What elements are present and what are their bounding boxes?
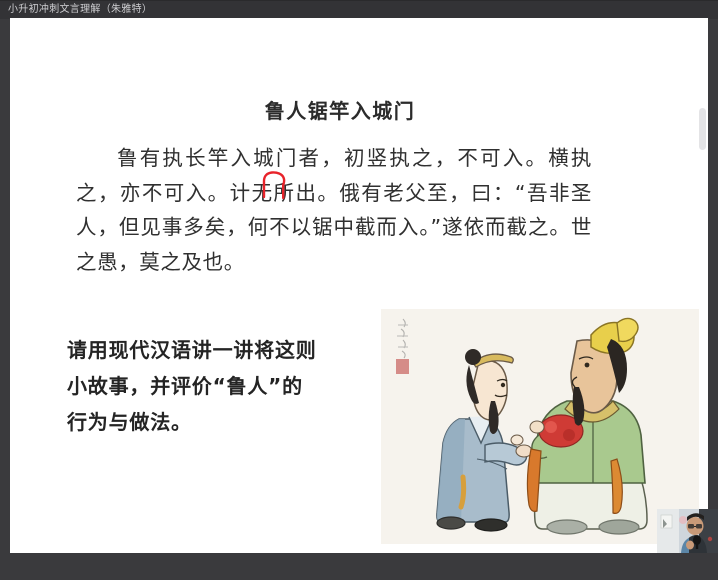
prompt-block: 请用现代汉语讲一讲将这则 小故事，并评价“鲁人”的 行为与做法。: [67, 332, 367, 440]
webcam-video: [657, 509, 718, 553]
lesson-title: 小升初冲刺文言理解（朱雅特）: [0, 1, 152, 19]
ink-painting-two-figures: [381, 309, 699, 544]
page-scrollbar-thumb[interactable]: [699, 108, 706, 150]
presenter-webcam[interactable]: [657, 509, 718, 553]
seal-stamp: [396, 359, 409, 374]
page-title: 鲁人锯竿入城门: [10, 95, 670, 124]
classical-passage-text: 鲁有执长竿入城门者，初竖执之，不可入。横执之，亦不可入。计无所出。俄有老父至，曰…: [76, 141, 592, 279]
illustration-image: [381, 309, 699, 544]
title-bar: 小升初冲刺文言理解（朱雅特）: [0, 0, 718, 19]
lesson-player-window: 小升初冲刺文言理解（朱雅特） 鲁人锯竿入城门 鲁有执长竿入城门者，初竖执之，不可…: [0, 0, 718, 580]
prompt-line-2: 小故事，并评价“鲁人”的: [67, 368, 367, 404]
bottom-bar: [0, 553, 718, 580]
slide-stage[interactable]: 鲁人锯竿入城门 鲁有执长竿入城门者，初竖执之，不可入。横执之，亦不可入。计无所出…: [10, 18, 708, 553]
prompt-line-1: 请用现代汉语讲一讲将这则: [67, 332, 367, 368]
prompt-line-3: 行为与做法。: [67, 404, 367, 440]
page-scrollbar[interactable]: [698, 18, 708, 553]
